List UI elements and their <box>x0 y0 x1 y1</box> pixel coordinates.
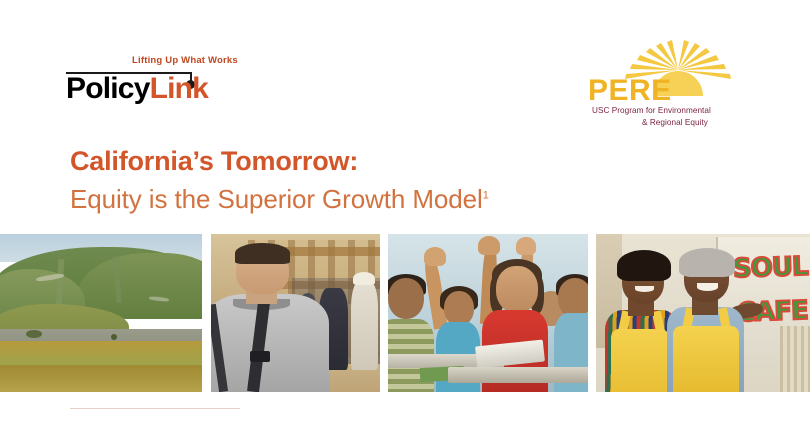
cafe-window-blinds <box>780 326 810 392</box>
page-title: California’s Tomorrow: Equity is the Sup… <box>70 145 690 215</box>
photo-california-hills-landscape <box>0 234 202 392</box>
classroom-student-left-head <box>388 278 424 319</box>
classroom-student-right-head <box>558 278 588 318</box>
cafe-woman-1-yellow-apron <box>611 329 669 392</box>
pere-wordmark: PERE <box>588 76 672 106</box>
pere-logo: PERE USC Program for Environmental & Reg… <box>588 40 748 132</box>
pere-subtitle-line2: & Regional Equity <box>642 118 708 127</box>
title-line-2-text: Equity is the Superior Growth Model <box>70 184 483 214</box>
cafe-sign-word-1: SOUL <box>732 252 808 285</box>
title-footnote-marker: 1 <box>483 189 489 201</box>
classroom-desk-2 <box>448 367 588 383</box>
worker-hair <box>235 243 291 264</box>
policylink-tagline: Lifting Up What Works <box>132 55 238 66</box>
worker-hard-hat-icon <box>353 272 375 285</box>
policylink-wordmark: PolicyLink <box>66 74 208 104</box>
cafe-woman-1-hair <box>617 250 671 282</box>
report-cover-page: Lifting Up What Works PolicyLink <box>0 0 810 421</box>
footnote-divider-rule <box>70 408 240 409</box>
cafe-woman-2-gray-hair <box>679 248 735 276</box>
photo-construction-worker <box>211 234 380 392</box>
classroom-raised-hand-1 <box>424 247 446 266</box>
cafe-woman-2-smile <box>697 283 718 291</box>
classroom-raised-hand-3 <box>516 237 536 254</box>
classroom-girl-head <box>496 266 538 313</box>
policylink-word-policy: Policy <box>66 72 150 105</box>
photo-classroom-students <box>388 234 588 392</box>
classroom-student-mid-head <box>444 291 474 326</box>
landscape-bush-2 <box>111 334 117 340</box>
policylink-word-link: Link <box>150 72 208 105</box>
landscape-foreground-field <box>0 365 202 392</box>
pere-subtitle-line1: USC Program for Environmental <box>592 106 711 115</box>
worker-tool-pouch <box>250 351 270 362</box>
policylink-logo: Lifting Up What Works PolicyLink <box>66 55 286 110</box>
title-line-2: Equity is the Superior Growth Model1 <box>70 184 690 215</box>
cafe-woman-2-yellow-apron <box>673 326 739 392</box>
classroom-raised-hand-2 <box>478 236 500 255</box>
title-line-1: California’s Tomorrow: <box>70 145 690 178</box>
photo-cafe-workers: SOUL CAFE <box>596 234 810 392</box>
worker-bystander-light <box>351 281 378 369</box>
photo-strip: SOUL CAFE <box>0 234 810 392</box>
